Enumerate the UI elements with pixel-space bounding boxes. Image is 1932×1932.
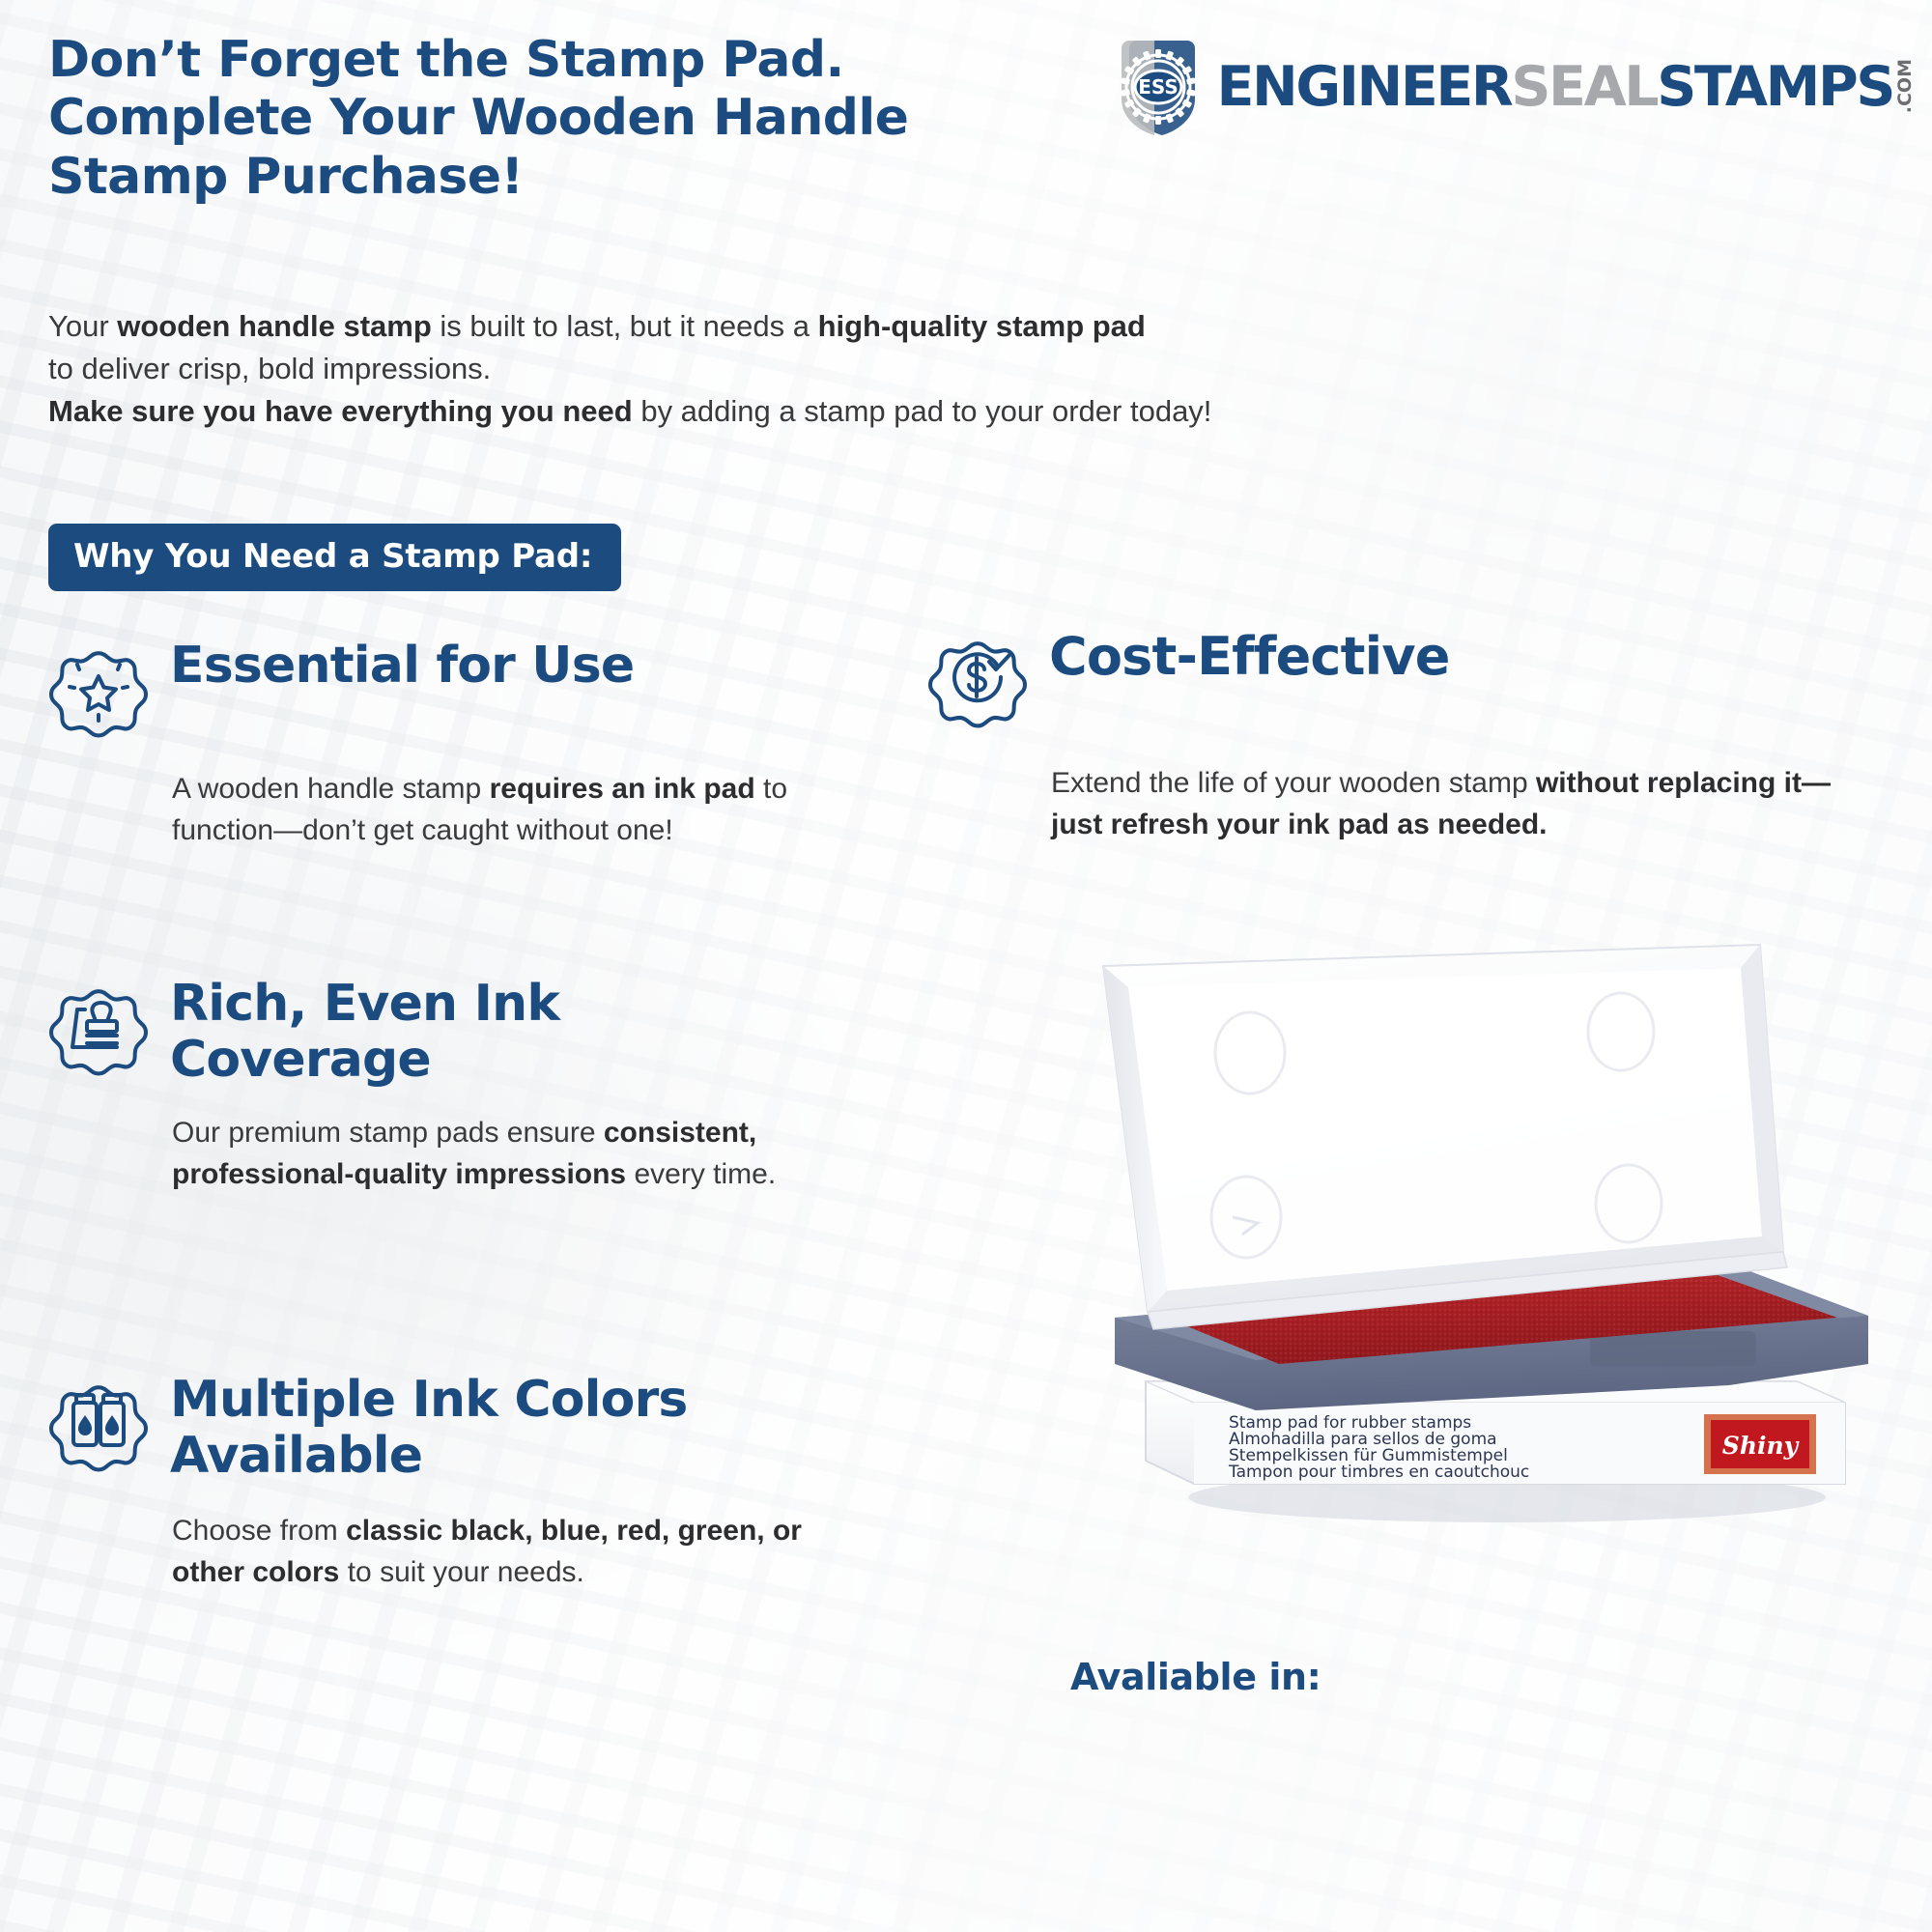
shiny-brand-logo: Shiny [1704, 1414, 1816, 1474]
feature-header: Cost-Effective [927, 628, 1893, 738]
feature-header: Multiple Ink Colors Available [48, 1372, 850, 1484]
feature-header: Essential for Use [48, 638, 802, 748]
intro-t1: Your [48, 309, 117, 343]
feature-title: Essential for Use [170, 638, 634, 694]
shiny-brand-text: Shiny [1722, 1432, 1800, 1460]
available-in-label: Avaliable in: [1070, 1656, 1321, 1698]
header: Don’t Forget the Stamp Pad. Complete You… [48, 17, 1932, 206]
ink-bottles-seal-icon [48, 1376, 149, 1482]
feature-cost-effective: Cost-Effective Extend the life of your w… [927, 628, 1893, 846]
headline-line-2: Complete Your Wooden Handle [48, 89, 908, 147]
intro-paragraph: Your wooden handle stamp is built to las… [48, 305, 1343, 433]
intro-b3: Make sure you have everything you need [48, 394, 633, 428]
section-banner: Why You Need a Stamp Pad: [48, 524, 621, 591]
wordmark-engineer: ENGINEER [1216, 60, 1511, 115]
wordmark-stamps: STAMPS [1657, 60, 1893, 115]
feature-essential-for-use: Essential for Use A wooden handle stamp … [48, 638, 802, 852]
intro-t2: is built to last, but it needs a [432, 309, 818, 343]
feature-body: Our premium stamp pads ensure consistent… [172, 1113, 790, 1196]
brand-wordmark: ENGINEERSEALSTAMPS .COM [1216, 59, 1915, 115]
box-line-fr: Tampon pour timbres en caoutchouc [1228, 1463, 1529, 1482]
intro-line-1: Your wooden handle stamp is built to las… [48, 305, 1343, 348]
body-b1: requires an ink pad [490, 773, 755, 805]
body-t1: Our premium stamp pads ensure [172, 1117, 604, 1149]
ess-monogram: ESS [1139, 75, 1179, 99]
rubber-stamp-seal-icon [48, 980, 149, 1086]
feature-body: Choose from classic black, blue, red, gr… [172, 1511, 848, 1594]
feature-rich-even-ink-coverage: Rich, Even Ink Coverage Our premium stam… [48, 976, 802, 1196]
intro-line-3: Make sure you have everything you need b… [48, 390, 1343, 433]
body-t2: to suit your needs. [339, 1556, 583, 1588]
brand-logo[interactable]: ESS ENGINEERSEALSTAMPS .COM [1104, 35, 1915, 139]
intro-line-2: to deliver crisp, bold impressions. [48, 348, 1343, 390]
feature-title: Multiple Ink Colors Available [170, 1372, 688, 1484]
feature-body: A wooden handle stamp requires an ink pa… [172, 769, 810, 852]
feature-title: Cost-Effective [1049, 628, 1450, 686]
feature-body: Extend the life of your wooden stamp wit… [1051, 763, 1882, 846]
dollar-check-seal-icon [927, 632, 1028, 738]
body-t1: Choose from [172, 1515, 346, 1547]
body-t1: A wooden handle stamp [172, 773, 490, 805]
feature-multiple-ink-colors: Multiple Ink Colors Available Choose fro… [48, 1372, 850, 1594]
headline-line-1: Don’t Forget the Stamp Pad. [48, 31, 908, 89]
ess-shield-gear-icon: ESS [1104, 35, 1208, 139]
headline-line-3: Stamp Purchase! [48, 148, 908, 206]
feature-title-line-1: Multiple Ink Colors [170, 1372, 688, 1428]
page-title: Don’t Forget the Stamp Pad. Complete You… [48, 17, 908, 206]
star-seal-icon [48, 641, 149, 748]
feature-header: Rich, Even Ink Coverage [48, 976, 802, 1088]
feature-title-line-1: Rich, Even Ink [170, 976, 559, 1032]
product-photo-stamp-pad: Stamp pad for rubber stamps Almohadilla … [1053, 927, 1903, 1526]
feature-title-line-2: Available [170, 1428, 688, 1484]
infographic-page: Don’t Forget the Stamp Pad. Complete You… [0, 0, 1932, 1932]
feature-title-line-2: Coverage [170, 1032, 559, 1088]
wordmark-tld: .COM [1896, 59, 1915, 113]
intro-b2: high-quality stamp pad [818, 309, 1146, 343]
intro-b1: wooden handle stamp [117, 309, 432, 343]
body-t2: every time. [626, 1158, 776, 1190]
body-t1: Extend the life of your wooden stamp [1051, 767, 1536, 799]
feature-title: Rich, Even Ink Coverage [170, 976, 559, 1088]
wordmark-seal: SEAL [1511, 60, 1657, 115]
intro-t3: by adding a stamp pad to your order toda… [633, 394, 1212, 428]
